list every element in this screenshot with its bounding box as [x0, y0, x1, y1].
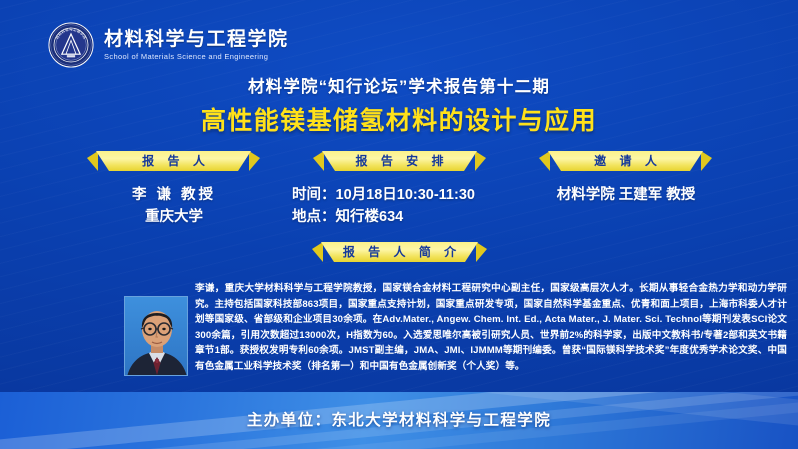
ribbon-body: 报 告 安 排 — [322, 151, 477, 171]
schedule-time: 时间：10月18日10:30-11:30 — [292, 184, 507, 206]
speaker-info: 李 谦 教授 重庆大学 — [80, 184, 268, 229]
ribbon-tail-left — [539, 151, 550, 171]
school-logo-text: 材料科学与工程学院 School of Materials Science an… — [104, 29, 289, 62]
speaker-portrait-photo — [124, 296, 188, 376]
poster-root: 材料科学与工程学院 材料科学与工程学院 School of Materials … — [0, 0, 798, 449]
speaker-affiliation: 重庆大学 — [80, 206, 268, 228]
school-logo-block: 材料科学与工程学院 材料科学与工程学院 School of Materials … — [48, 22, 289, 68]
ribbon-tail-right — [701, 151, 712, 171]
ribbon-body: 报 告 人 简 介 — [321, 242, 478, 262]
bio-panel: 李谦，重庆大学材料科学与工程学院教授，国家镁合金材料工程研究中心副主任，国家级高… — [110, 268, 798, 396]
ribbon-tail-right — [475, 151, 486, 171]
event-subtitle: 材料学院“知行论坛”学术报告第十二期 — [0, 73, 798, 97]
school-name-en: School of Materials Science and Engineer… — [104, 52, 289, 61]
schedule-info: 时间：10月18日10:30-11:30 地点：知行楼634 — [292, 184, 507, 229]
ribbon-tail-right — [249, 151, 260, 171]
speaker-bio-text: 李谦，重庆大学材料科学与工程学院教授，国家镁合金材料工程研究中心副主任，国家级高… — [195, 281, 787, 374]
ribbon-body: 邀 请 人 — [548, 151, 703, 171]
schedule-location: 地点：知行楼634 — [292, 206, 507, 228]
ribbon-tail-left — [312, 242, 323, 262]
host-info: 材料学院 王建军 教授 — [532, 184, 720, 206]
ribbon-label-schedule: 报 告 安 排 — [350, 155, 448, 167]
footer-band: 主办单位：东北大学材料科学与工程学院 — [0, 392, 798, 449]
neu-school-emblem-icon: 材料科学与工程学院 — [48, 22, 94, 68]
speaker-name: 李 谦 教授 — [80, 184, 268, 206]
ribbon-bio: 报 告 人 简 介 — [321, 242, 478, 262]
ribbon-host: 邀 请 人 — [548, 151, 703, 171]
ribbon-tail-left — [87, 151, 98, 171]
ribbon-tail-right — [476, 242, 487, 262]
school-name-cn: 材料科学与工程学院 — [104, 29, 289, 51]
ribbon-label-bio: 报 告 人 简 介 — [338, 246, 461, 258]
ribbon-label-host: 邀 请 人 — [589, 155, 662, 167]
ribbon-schedule: 报 告 安 排 — [322, 151, 477, 171]
host-name: 材料学院 王建军 教授 — [532, 184, 720, 206]
organizer-text: 主办单位：东北大学材料科学与工程学院 — [0, 408, 798, 430]
ribbon-label-speaker: 报 告 人 — [137, 155, 210, 167]
event-main-title: 高性能镁基储氢材料的设计与应用 — [0, 101, 798, 137]
ribbon-speaker: 报 告 人 — [96, 151, 251, 171]
ribbon-body: 报 告 人 — [96, 151, 251, 171]
ribbon-tail-left — [313, 151, 324, 171]
